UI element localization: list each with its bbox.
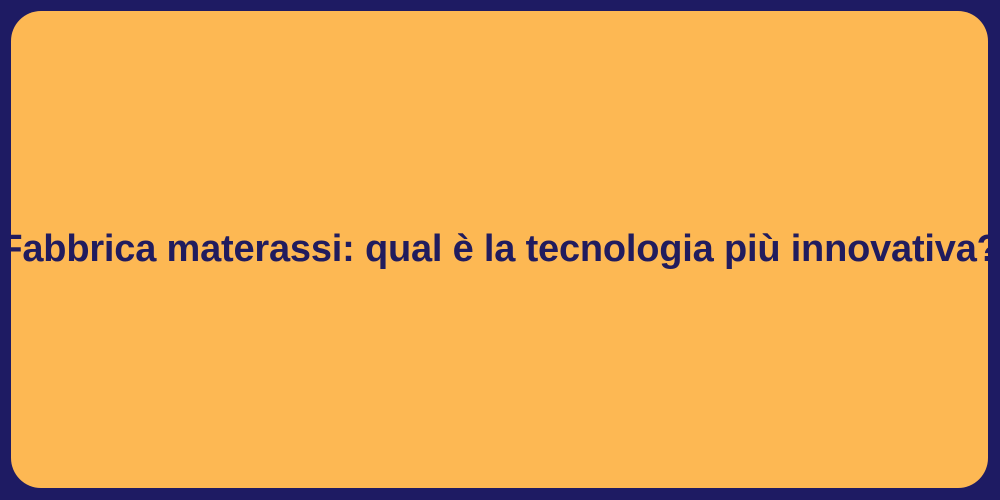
banner-frame: Fabbrica materassi: qual è la tecnologia…	[0, 0, 1000, 500]
banner-card: Fabbrica materassi: qual è la tecnologia…	[11, 11, 988, 488]
page-title: Fabbrica materassi: qual è la tecnologia…	[11, 226, 988, 274]
